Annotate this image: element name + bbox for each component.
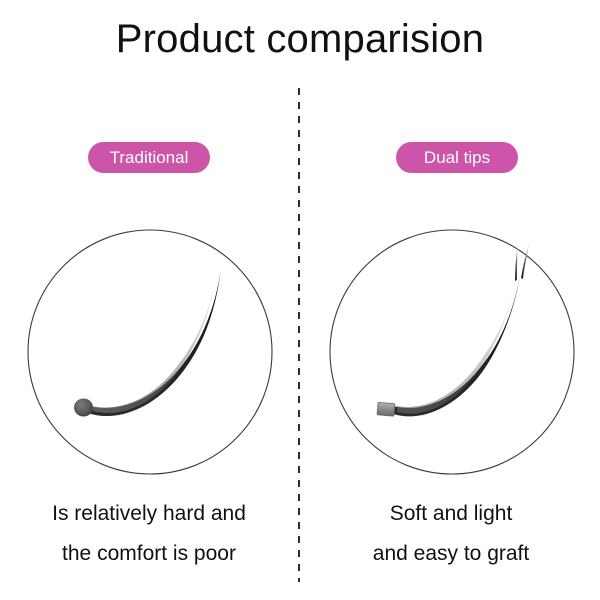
lash-tip-inner <box>515 244 518 281</box>
lash-highlight <box>397 288 515 414</box>
caption-line: and easy to graft <box>302 534 600 574</box>
comparison-column-traditional: Traditional <box>0 0 298 600</box>
lash-base-rounded <box>74 399 93 417</box>
dual-tips-lash-illustration <box>327 228 577 478</box>
comparison-column-dual-tips: Dual tips <box>302 0 600 600</box>
lash-shaft <box>393 276 520 416</box>
caption-dual-tips: Soft and light and easy to graft <box>302 494 600 574</box>
caption-line: Soft and light <box>302 494 600 534</box>
illustration-circle-outline <box>28 230 272 474</box>
product-comparison-page: Product comparision Traditional <box>0 0 600 600</box>
caption-traditional: Is relatively hard and the comfort is po… <box>0 494 298 574</box>
vertical-dashed-divider <box>298 88 300 582</box>
badge-dual-tips: Dual tips <box>396 142 518 173</box>
caption-line: the comfort is poor <box>0 534 298 574</box>
lash-base-flat <box>377 402 395 416</box>
traditional-lash-illustration <box>25 228 275 478</box>
lash-tip-outer <box>521 244 529 279</box>
illustration-circle-outline <box>330 230 574 474</box>
badge-traditional: Traditional <box>88 142 210 173</box>
caption-line: Is relatively hard and <box>0 494 298 534</box>
